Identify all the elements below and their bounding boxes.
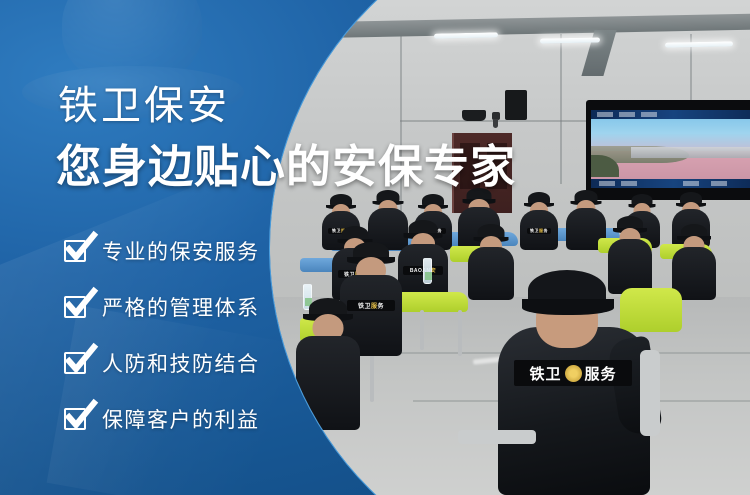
checkbox-check-icon bbox=[64, 240, 86, 262]
banner-content: 铁卫保安 您身边贴心的安保专家 专业的保安服务 严格的管理体系 人防和技防结合 bbox=[0, 0, 420, 495]
feature-label: 人防和技防结合 bbox=[102, 348, 260, 378]
feature-label: 保障客户的利益 bbox=[102, 404, 260, 434]
feature-label: 专业的保安服务 bbox=[102, 236, 260, 266]
security-company-banner: 铁卫服务 铁卫服务 铁卫服务 bbox=[0, 0, 750, 495]
checkbox-check-icon bbox=[64, 352, 86, 374]
headline: 您身边贴心的安保专家 bbox=[56, 143, 516, 192]
feature-label: 严格的管理体系 bbox=[102, 292, 260, 322]
brand-title: 铁卫保安 bbox=[58, 86, 230, 126]
feature-item[interactable]: 专业的保安服务 bbox=[64, 236, 260, 266]
feature-list: 专业的保安服务 严格的管理体系 人防和技防结合 保障客户的利益 bbox=[64, 236, 260, 460]
checkbox-check-icon bbox=[64, 296, 86, 318]
feature-item[interactable]: 严格的管理体系 bbox=[64, 292, 260, 322]
feature-item[interactable]: 保障客户的利益 bbox=[64, 404, 260, 434]
checkbox-check-icon bbox=[64, 408, 86, 430]
feature-item[interactable]: 人防和技防结合 bbox=[64, 348, 260, 378]
